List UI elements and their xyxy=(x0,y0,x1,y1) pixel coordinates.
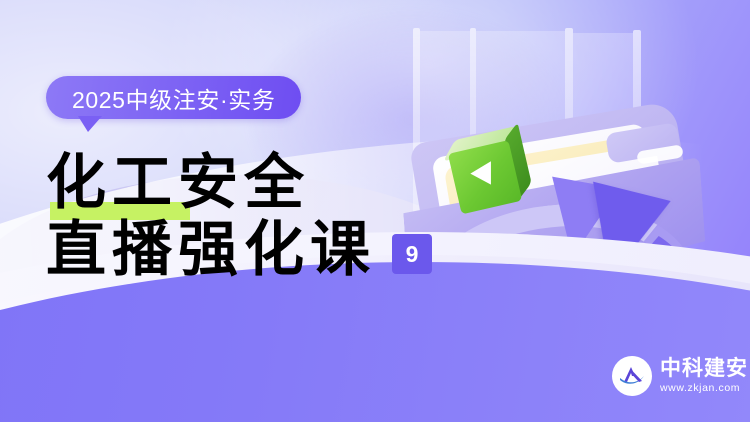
brand-logo-mark-icon xyxy=(612,356,652,396)
headline-line-1: 化工安全 xyxy=(46,150,310,217)
brand-website: www.zkjan.com xyxy=(660,383,748,394)
course-category-badge: 2025中级注安·实务 xyxy=(46,76,301,119)
headline-line-2: 直播强化课 xyxy=(46,217,376,284)
headline-line-1-row: 化工安全 xyxy=(46,150,432,217)
headline-line-2-row: 直播强化课 9 xyxy=(46,217,432,284)
bottom-swoosh-purple xyxy=(0,262,750,422)
brand-logo: 中科建安 www.zkjan.com xyxy=(612,356,748,396)
category-pill: 2025中级注安·实务 xyxy=(46,76,301,119)
episode-number-badge: 9 xyxy=(392,234,432,274)
category-pill-label: 2025中级注安·实务 xyxy=(72,81,275,115)
course-promo-banner: 2025中级注安·实务 化工安全 直播强化课 9 中科建安 www.zkjan.… xyxy=(0,0,750,422)
speech-bubble-tail-icon xyxy=(78,116,102,132)
headline-block: 化工安全 直播强化课 9 xyxy=(46,150,432,284)
brand-name: 中科建安 xyxy=(660,358,748,379)
brand-logo-text: 中科建安 www.zkjan.com xyxy=(660,358,748,394)
